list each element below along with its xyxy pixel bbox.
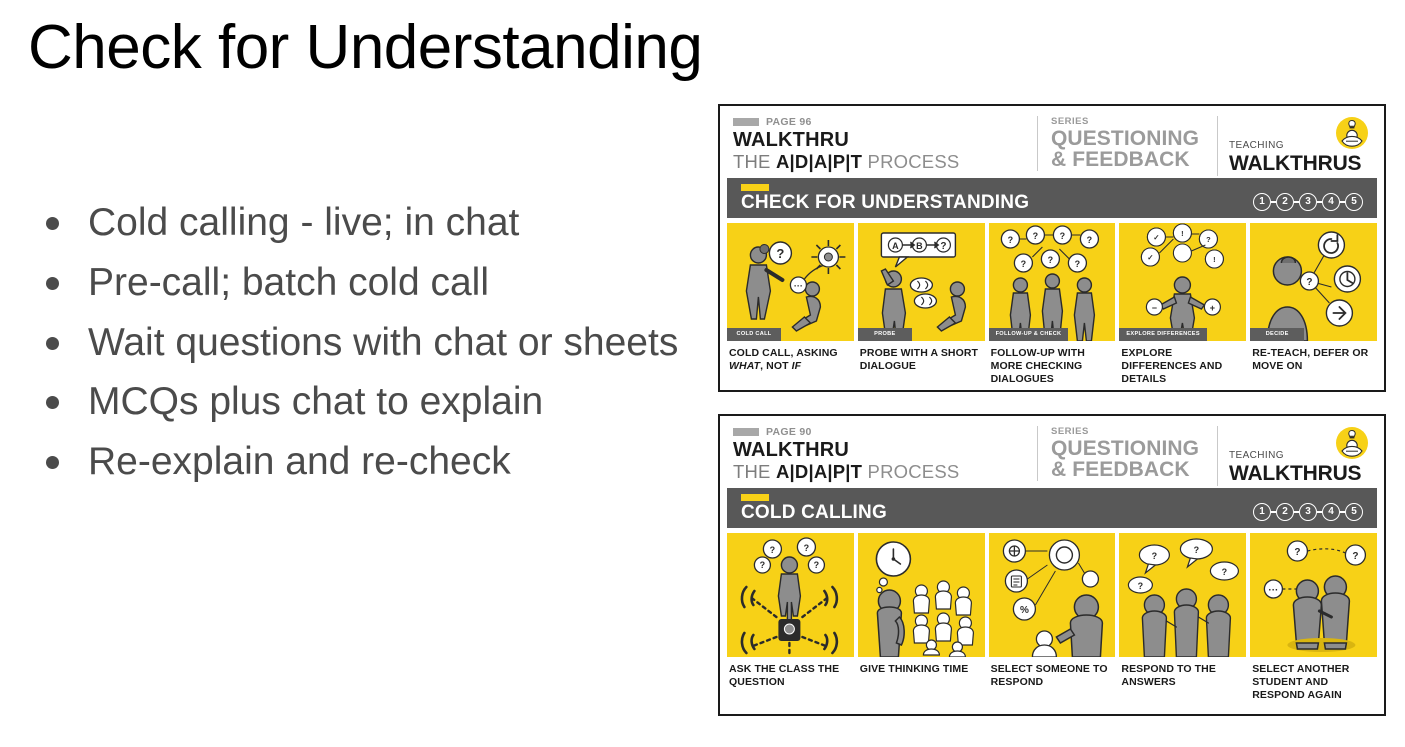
svg-text:?: ? xyxy=(814,560,820,570)
step-4: 4 xyxy=(1322,193,1340,211)
list-item: Re-explain and re-check xyxy=(36,435,686,489)
page-label: PAGE 96 xyxy=(766,116,812,128)
panel-cold-call: ? ··· xyxy=(727,223,854,386)
card-title: COLD CALLING xyxy=(741,502,887,528)
panel-caption: COLD CALL, ASKING WHAT, NOT IF xyxy=(727,341,854,373)
svg-text:%: % xyxy=(1020,605,1029,616)
caption-italic: WHAT xyxy=(729,360,760,372)
walkthru-card-cold-calling: PAGE 90 WALKTHRU THE A|D|A|P|T PROCESS S… xyxy=(718,414,1386,716)
card-header: PAGE 96 WALKTHRU THE A|D|A|P|T PROCESS S… xyxy=(727,112,1377,178)
page-swatch-icon xyxy=(733,428,759,436)
ask-the-class-illustration-icon: ???? xyxy=(727,533,854,657)
step-indicator: 1 2 3 4 5 xyxy=(1253,503,1363,521)
adapt-process-word: PROCESS xyxy=(862,461,959,482)
title-accent-marker xyxy=(741,184,769,191)
card-title-bar: CHECK FOR UNDERSTANDING 1 2 3 4 5 xyxy=(727,178,1377,218)
svg-text:?: ? xyxy=(1152,551,1158,561)
select-someone-illustration-icon: % xyxy=(989,533,1116,657)
svg-text:?: ? xyxy=(760,560,766,570)
panel-illustration-ask-class: ???? xyxy=(727,533,854,657)
list-item-label: Cold calling - live; in chat xyxy=(88,201,519,244)
panel-strip: ? ··· xyxy=(727,223,1377,386)
panel-respond-to-answers: ???? RESPOND TO THE ANS xyxy=(1119,533,1246,702)
page-swatch-icon xyxy=(733,118,759,126)
decide-illustration-icon: ? xyxy=(1250,223,1377,341)
svg-text:?: ? xyxy=(940,241,946,252)
brand-walkthru: WALKTHRU xyxy=(733,440,1033,461)
step-indicator: 1 2 3 4 5 xyxy=(1253,193,1363,211)
step-1: 1 xyxy=(1253,193,1271,211)
bullet-dot-icon xyxy=(46,217,59,230)
panel-tab-label: DECIDE xyxy=(1250,328,1304,341)
list-item: Cold calling - live; in chat xyxy=(36,196,686,250)
step-5: 5 xyxy=(1345,193,1363,211)
panel-illustration-select-someone: % xyxy=(989,533,1116,657)
panel-explore-differences: ✓!? ✓! −+ EXPLORE DIFFERENCES xyxy=(1119,223,1246,386)
svg-text:A: A xyxy=(892,241,899,251)
title-accent-marker xyxy=(741,494,769,501)
step-1: 1 xyxy=(1253,503,1271,521)
step-3: 3 xyxy=(1299,503,1317,521)
panel-illustration-decide: ? DECIDE xyxy=(1250,223,1377,341)
card-header: PAGE 90 WALKTHRU THE A|D|A|P|T PROCESS S… xyxy=(727,422,1377,488)
panel-probe: A B ? xyxy=(858,223,985,386)
page-label-row: PAGE 90 xyxy=(733,426,1033,437)
svg-text:···: ··· xyxy=(794,281,803,291)
bullet-dot-icon xyxy=(46,456,59,469)
caption-part: COLD CALL, ASKING xyxy=(729,347,838,359)
list-item-label: MCQs plus chat to explain xyxy=(88,380,543,423)
panel-select-someone: % SELECT SOMEONE TO RESPO xyxy=(989,533,1116,702)
svg-text:?: ? xyxy=(1032,231,1038,241)
card-header-logo-block: TEACHING WALKTHRUS xyxy=(1217,116,1375,176)
card-header-series: SERIES QUESTIONING & FEEDBACK xyxy=(1037,116,1217,171)
adapt-process-line: THE A|D|A|P|T PROCESS xyxy=(733,461,1033,482)
teaching-walkthrus-logo-icon xyxy=(1335,426,1369,460)
list-item-label: Pre-call; batch cold call xyxy=(88,261,489,304)
svg-text:?: ? xyxy=(1295,547,1301,558)
list-item-label: Wait questions with chat or sheets xyxy=(88,321,678,364)
list-item-label: Re-explain and re-check xyxy=(88,440,511,483)
adapt-the: THE xyxy=(733,151,776,172)
svg-text:?: ? xyxy=(1074,259,1080,269)
series-name: QUESTIONING & FEEDBACK xyxy=(1051,128,1217,171)
panel-tab-label: PROBE xyxy=(858,328,912,341)
svg-text:?: ? xyxy=(1059,231,1065,241)
panel-caption: SELECT SOMEONE TO RESPOND xyxy=(989,657,1116,689)
panel-tab-label: FOLLOW-UP & CHECK xyxy=(989,328,1069,341)
panel-select-another-student: ??··· xyxy=(1250,533,1377,702)
step-2: 2 xyxy=(1276,193,1294,211)
series-kicker: SERIES xyxy=(1051,116,1217,127)
card-header-brand: PAGE 96 WALKTHRU THE A|D|A|P|T PROCESS xyxy=(733,116,1033,172)
svg-text:?: ? xyxy=(1353,551,1359,562)
select-another-student-illustration-icon: ??··· xyxy=(1250,533,1377,657)
list-item: MCQs plus chat to explain xyxy=(36,375,686,429)
panel-illustration-follow-up: ???? ??? FOLLOW-UP & CHECK xyxy=(989,223,1116,341)
series-kicker: SERIES xyxy=(1051,426,1217,437)
brand-walkthru: WALKTHRU xyxy=(733,130,1033,151)
bullet-list: Cold calling - live; in chat Pre-call; b… xyxy=(36,196,686,495)
page-label-row: PAGE 96 xyxy=(733,116,1033,127)
panel-caption: RE-TEACH, DEFER OR MOVE ON xyxy=(1250,341,1377,373)
svg-text:?: ? xyxy=(776,246,784,261)
svg-text:···: ··· xyxy=(1269,585,1279,596)
teaching-walkthrus-name: WALKTHRUS xyxy=(1229,152,1375,176)
svg-text:?: ? xyxy=(1086,235,1092,245)
teaching-walkthrus-logo-icon xyxy=(1335,116,1369,150)
bullet-dot-icon xyxy=(46,337,59,350)
give-thinking-time-illustration-icon xyxy=(858,533,985,657)
card-header-brand: PAGE 90 WALKTHRU THE A|D|A|P|T PROCESS xyxy=(733,426,1033,482)
panel-caption: FOLLOW-UP WITH MORE CHECKING DIALOGUES xyxy=(989,341,1116,386)
follow-up-illustration-icon: ???? ??? xyxy=(989,223,1116,341)
respond-to-answers-illustration-icon: ???? xyxy=(1119,533,1246,657)
panel-tab-label: COLD CALL xyxy=(727,328,781,341)
panel-follow-up: ???? ??? FOLLOW-UP & CHECK FOLLOW-UP WIT… xyxy=(989,223,1116,386)
panel-ask-the-class: ???? xyxy=(727,533,854,702)
svg-text:✓: ✓ xyxy=(1154,233,1160,242)
cold-call-illustration-icon: ? ··· xyxy=(727,223,854,341)
probe-illustration-icon: A B ? xyxy=(858,223,985,341)
series-name: QUESTIONING & FEEDBACK xyxy=(1051,438,1217,481)
teaching-walkthrus-name: WALKTHRUS xyxy=(1229,462,1375,486)
svg-text:B: B xyxy=(916,241,923,251)
svg-text:?: ? xyxy=(1047,255,1053,265)
step-2: 2 xyxy=(1276,503,1294,521)
page-label: PAGE 90 xyxy=(766,426,812,438)
svg-text:!: ! xyxy=(1182,229,1185,238)
bullet-dot-icon xyxy=(46,277,59,290)
bullet-dot-icon xyxy=(46,396,59,409)
svg-text:+: + xyxy=(1210,303,1215,313)
svg-text:−: − xyxy=(1152,303,1157,313)
panel-illustration-select-another: ??··· xyxy=(1250,533,1377,657)
panel-strip: ???? xyxy=(727,533,1377,702)
step-5: 5 xyxy=(1345,503,1363,521)
adapt-the: THE xyxy=(733,461,776,482)
adapt-letters: A|D|A|P|T xyxy=(776,461,862,482)
svg-text:?: ? xyxy=(1020,259,1026,269)
panel-caption: PROBE WITH A SHORT DIALOGUE xyxy=(858,341,985,373)
panel-tab-label: EXPLORE DIFFERENCES xyxy=(1119,328,1206,341)
card-title-bar: COLD CALLING 1 2 3 4 5 xyxy=(727,488,1377,528)
svg-text:?: ? xyxy=(1007,235,1013,245)
list-item: Wait questions with chat or sheets xyxy=(36,316,686,370)
adapt-letters: A|D|A|P|T xyxy=(776,151,862,172)
step-4: 4 xyxy=(1322,503,1340,521)
adapt-process-line: THE A|D|A|P|T PROCESS xyxy=(733,151,1033,172)
panel-illustration-thinking-time xyxy=(858,533,985,657)
svg-text:?: ? xyxy=(1138,581,1144,591)
panel-caption: SELECT ANOTHER STUDENT AND RESPOND AGAIN xyxy=(1250,657,1377,702)
svg-text:!: ! xyxy=(1214,255,1217,264)
card-header-logo-block: TEACHING WALKTHRUS xyxy=(1217,426,1375,486)
panel-caption: RESPOND TO THE ANSWERS xyxy=(1119,657,1246,689)
svg-text:?: ? xyxy=(1194,545,1200,555)
panel-illustration-explore: ✓!? ✓! −+ EXPLORE DIFFERENCES xyxy=(1119,223,1246,341)
step-3: 3 xyxy=(1299,193,1317,211)
panel-give-thinking-time: GIVE THINKING TIME xyxy=(858,533,985,702)
caption-part: , NOT xyxy=(760,360,792,372)
svg-text:✓: ✓ xyxy=(1148,253,1154,262)
card-header-series: SERIES QUESTIONING & FEEDBACK xyxy=(1037,426,1217,481)
panel-caption: ASK THE CLASS THE QUESTION xyxy=(727,657,854,689)
list-item: Pre-call; batch cold call xyxy=(36,256,686,310)
svg-text:?: ? xyxy=(1307,277,1313,288)
caption-italic: IF xyxy=(792,360,802,372)
panel-illustration-probe: A B ? xyxy=(858,223,985,341)
panel-caption: GIVE THINKING TIME xyxy=(858,657,985,676)
panel-decide: ? DECIDE RE-TEACH, DEFER OR MOVE ON xyxy=(1250,223,1377,386)
adapt-process-word: PROCESS xyxy=(862,151,959,172)
explore-differences-illustration-icon: ✓!? ✓! −+ xyxy=(1119,223,1246,341)
svg-text:?: ? xyxy=(1222,567,1228,577)
panel-caption: EXPLORE DIFFERENCES AND DETAILS xyxy=(1119,341,1246,386)
page-title: Check for Understanding xyxy=(28,12,702,83)
panel-illustration-cold-call: ? ··· xyxy=(727,223,854,341)
svg-text:?: ? xyxy=(804,543,810,553)
walkthru-card-check-for-understanding: PAGE 96 WALKTHRU THE A|D|A|P|T PROCESS S… xyxy=(718,104,1386,392)
panel-illustration-respond-answers: ???? xyxy=(1119,533,1246,657)
svg-text:?: ? xyxy=(770,545,776,555)
card-title: CHECK FOR UNDERSTANDING xyxy=(741,192,1029,218)
svg-text:?: ? xyxy=(1206,235,1211,244)
